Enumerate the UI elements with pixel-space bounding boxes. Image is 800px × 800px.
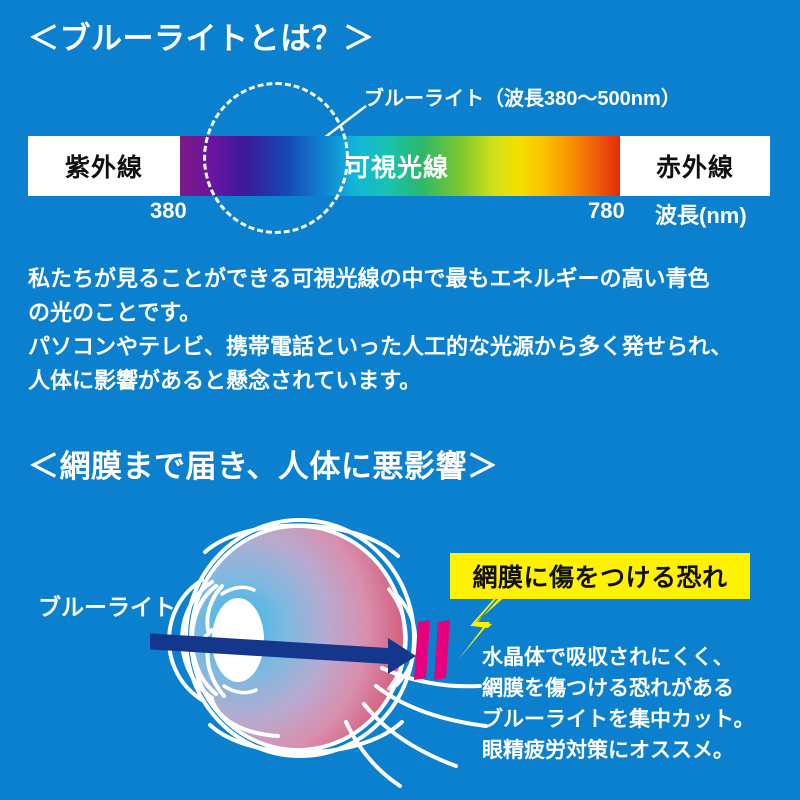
desc-line-3: ブルーライトを集中カット。	[482, 704, 755, 735]
intro-line-4: 人体に影響があると懸念されています。	[28, 364, 788, 398]
spectrum-bar: 紫外線 赤外線	[28, 136, 770, 196]
callout-lightning-tail	[440, 592, 520, 662]
spectrum-axis-unit: 波長(nm)	[655, 198, 747, 230]
spectrum-label-uv: 紫外線	[28, 136, 180, 196]
spectrum-tick-780: 780	[588, 198, 625, 224]
product-description: 水晶体で吸収されにくく、 網膜を傷つける恐れがある ブルーライトを集中カット。 …	[482, 642, 755, 766]
bluelight-ray-label: ブルーライト	[38, 588, 176, 622]
desc-line-2: 網膜を傷つける恐れがある	[482, 673, 755, 704]
intro-line-1: 私たちが見ることができる可視光線の中で最もエネルギーの高い青色	[28, 262, 788, 296]
intro-paragraph: 私たちが見ることができる可視光線の中で最もエネルギーの高い青色 の光のことです。…	[28, 262, 788, 398]
retina-damage-callout: 網膜に傷をつける恐れ	[450, 553, 750, 599]
bluelight-annotation-label: ブルーライト（波長380〜500nm）	[364, 82, 681, 111]
spectrum-label-ir: 赤外線	[620, 136, 770, 196]
page-title: ＜ブルーライトとは？＞	[28, 22, 375, 56]
desc-line-1: 水晶体で吸収されにくく、	[482, 642, 755, 673]
poster-canvas: ＜ブルーライトとは？＞ ブルーライト（波長380〜500nm） 紫外線 赤外線 …	[0, 0, 800, 800]
section2-title: ＜網膜まで届き、人体に悪影響＞	[28, 441, 498, 486]
intro-line-3: パソコンやテレビ、携帯電話といった人工的な光源から多く発せられ、	[28, 330, 788, 364]
spectrum-tick-380: 380	[150, 198, 187, 224]
intro-line-2: の光のことです。	[28, 296, 788, 330]
desc-line-4: 眼精疲労対策にオススメ。	[482, 735, 755, 766]
bluelight-highlight-ellipse	[203, 82, 349, 234]
